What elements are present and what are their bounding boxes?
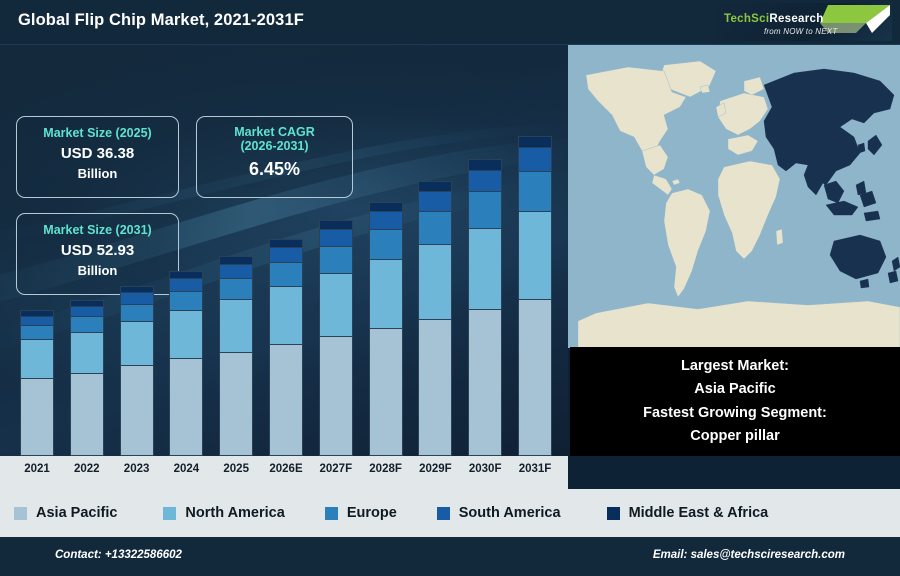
world-map-svg <box>568 45 900 348</box>
legend-swatch-icon <box>607 507 620 520</box>
bar-segment-europe <box>219 278 253 300</box>
logo-tagline: from NOW to NEXT <box>764 27 837 36</box>
bar-segment-asia-pacific <box>169 358 203 456</box>
footer-email: Email: sales@techsciresearch.com <box>653 549 845 561</box>
x-axis-label-2025: 2025 <box>208 463 264 475</box>
bar-segment-south-america <box>120 292 154 303</box>
bar-segment-south-america <box>20 316 54 325</box>
legend-label: Asia Pacific <box>36 505 117 521</box>
callout-line-4: Copper pillar <box>690 425 779 448</box>
bar-segment-middle-east-africa <box>269 239 303 247</box>
bar-segment-south-america <box>219 264 253 278</box>
bar-segment-south-america <box>169 278 203 291</box>
bar-chart-plot-area <box>0 45 568 456</box>
legend-swatch-icon <box>14 507 27 520</box>
bar-segment-europe <box>418 211 452 244</box>
legend-item-asia-pacific[interactable]: Asia Pacific <box>14 505 117 521</box>
bar-segment-asia-pacific <box>468 309 502 456</box>
x-axis-label-2022: 2022 <box>59 463 115 475</box>
x-axis-label-2026E: 2026E <box>258 463 314 475</box>
page-title: Global Flip Chip Market, 2021-2031F <box>18 11 304 30</box>
x-axis-label-2023: 2023 <box>109 463 165 475</box>
bar-segment-asia-pacific <box>319 336 353 456</box>
bar-segment-north-america <box>518 211 552 299</box>
callout-line-3: Fastest Growing Segment: <box>643 402 827 425</box>
legend-item-middle-east-africa[interactable]: Middle East & Africa <box>607 505 769 521</box>
bar-2021 <box>20 310 54 456</box>
x-axis-label-2027F: 2027F <box>308 463 364 475</box>
bar-segment-asia-pacific <box>120 365 154 456</box>
bar-2027F <box>319 220 353 456</box>
bar-2030F <box>468 159 502 456</box>
bar-2025 <box>219 256 253 456</box>
bar-segment-north-america <box>269 286 303 344</box>
bar-segment-north-america <box>468 228 502 309</box>
bar-2024 <box>169 271 203 456</box>
bar-segment-asia-pacific <box>518 299 552 456</box>
chart-legend: Asia PacificNorth AmericaEuropeSouth Ame… <box>0 489 900 537</box>
header-bar: Global Flip Chip Market, 2021-2031F Tech… <box>0 0 900 45</box>
legend-swatch-icon <box>437 507 450 520</box>
bar-segment-south-america <box>70 306 104 316</box>
bar-segment-europe <box>269 262 303 286</box>
bar-segment-south-america <box>468 170 502 192</box>
footer-bar: Contact: +13322586602 Email: sales@techs… <box>0 537 900 576</box>
bar-segment-asia-pacific <box>20 378 54 456</box>
bar-segment-south-america <box>319 229 353 246</box>
bar-2031F <box>518 136 552 456</box>
x-axis-label-2029F: 2029F <box>407 463 463 475</box>
bar-segment-asia-pacific <box>369 328 403 456</box>
x-axis-label-2024: 2024 <box>158 463 214 475</box>
bar-segment-europe <box>468 191 502 227</box>
bar-segment-asia-pacific <box>269 344 303 456</box>
legend-swatch-icon <box>163 507 176 520</box>
bar-segment-north-america <box>418 244 452 319</box>
techsci-logo: TechSciResearch from NOW to NEXT <box>716 3 892 41</box>
legend-label: South America <box>459 505 561 521</box>
legend-item-south-america[interactable]: South America <box>437 505 561 521</box>
bar-2029F <box>418 181 452 456</box>
bar-segment-north-america <box>20 339 54 378</box>
logo-wordmark: TechSciResearch <box>724 13 824 25</box>
bar-segment-middle-east-africa <box>369 202 403 212</box>
bar-segment-middle-east-africa <box>518 136 552 147</box>
bar-segment-europe <box>20 325 54 339</box>
callout-line-1: Largest Market: <box>681 355 789 378</box>
legend-label: North America <box>185 505 284 521</box>
chart-panel: Market Size (2025) USD 36.38 Billion Mar… <box>0 45 568 456</box>
bar-segment-middle-east-africa <box>169 271 203 278</box>
infographic-root: Global Flip Chip Market, 2021-2031F Tech… <box>0 0 900 576</box>
legend-label: Middle East & Africa <box>629 505 769 521</box>
x-axis-label-2031F: 2031F <box>507 463 563 475</box>
bar-segment-north-america <box>369 259 403 328</box>
bar-segment-middle-east-africa <box>120 286 154 293</box>
bar-segment-europe <box>70 316 104 332</box>
logo-text-research: Research <box>769 13 823 25</box>
bar-segment-middle-east-africa <box>219 256 253 264</box>
legend-item-europe[interactable]: Europe <box>325 505 397 521</box>
footer-contact: Contact: +13322586602 <box>55 549 182 561</box>
bar-segment-north-america <box>319 273 353 336</box>
bar-segment-asia-pacific <box>219 352 253 456</box>
callout-box: Largest Market: Asia Pacific Fastest Gro… <box>570 347 900 456</box>
bar-segment-middle-east-africa <box>468 159 502 170</box>
logo-text-tech: TechSci <box>724 13 769 25</box>
bar-segment-middle-east-africa <box>418 181 452 191</box>
bar-segment-europe <box>518 171 552 211</box>
bar-segment-south-america <box>518 147 552 171</box>
bar-segment-europe <box>369 229 403 259</box>
x-axis-label-2030F: 2030F <box>457 463 513 475</box>
bar-segment-north-america <box>219 299 253 351</box>
bar-segment-south-america <box>269 247 303 262</box>
bar-segment-asia-pacific <box>418 319 452 456</box>
legend-label: Europe <box>347 505 397 521</box>
x-axis-labels: 202120222023202420252026E2027F2028F2029F… <box>0 456 568 489</box>
callout-line-2: Asia Pacific <box>694 378 775 401</box>
bar-segment-north-america <box>120 321 154 365</box>
x-axis-label-2021: 2021 <box>9 463 65 475</box>
world-map <box>568 45 900 348</box>
bar-segment-europe <box>169 291 203 310</box>
bar-segment-north-america <box>70 332 104 373</box>
bar-segment-south-america <box>418 191 452 211</box>
bar-2022 <box>70 300 104 456</box>
legend-swatch-icon <box>325 507 338 520</box>
x-axis-label-2028F: 2028F <box>358 463 414 475</box>
legend-item-north-america[interactable]: North America <box>163 505 284 521</box>
bar-segment-asia-pacific <box>70 373 104 456</box>
bar-segment-south-america <box>369 211 403 229</box>
bar-2023 <box>120 285 154 456</box>
bar-2028F <box>369 202 403 456</box>
bar-segment-europe <box>120 304 154 321</box>
bar-segment-middle-east-africa <box>319 220 353 229</box>
bar-segment-north-america <box>169 310 203 358</box>
bar-segment-europe <box>319 246 353 273</box>
bar-2026E <box>269 238 303 456</box>
